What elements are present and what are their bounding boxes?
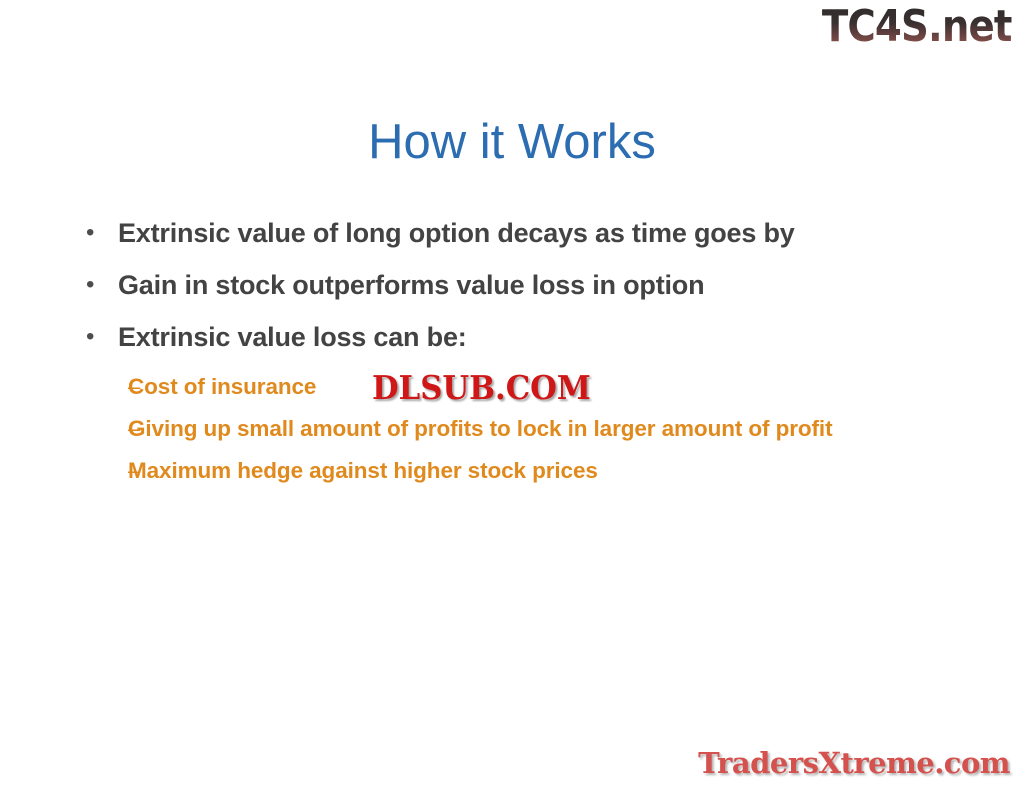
list-item-label: Gain in stock outperforms value loss in … [118,266,704,304]
bullet-dot-icon: • [78,266,118,304]
dash-icon: – [78,370,128,404]
sub-list-item-label: Cost of insurance [128,370,316,404]
bullet-dot-icon: • [78,214,118,252]
presentation-slide: TC4S.net How it Works • Extrinsic value … [0,0,1024,791]
list-item-label: Extrinsic value of long option decays as… [118,214,795,252]
dash-icon: – [78,412,128,446]
sub-list-item: – Maximum hedge against higher stock pri… [78,454,958,488]
sub-list-item: – Giving up small amount of profits to l… [78,412,958,446]
sub-list-item-label: Maximum hedge against higher stock price… [128,454,598,488]
list-item: • Extrinsic value of long option decays … [78,214,958,252]
dash-icon: – [78,454,128,488]
dlsub-watermark: DLSUB.COM [372,370,591,406]
bullet-list: • Extrinsic value of long option decays … [78,214,958,496]
list-item: • Extrinsic value loss can be: [78,318,958,356]
tradersxtreme-logo: TradersXtreme.com [698,745,1010,781]
bullet-dot-icon: • [78,318,118,356]
list-item-label: Extrinsic value loss can be: [118,318,467,356]
dlsub-watermark-label: DLSUB.COM [372,368,591,407]
list-item: • Gain in stock outperforms value loss i… [78,266,958,304]
tc4s-logo: TC4S.net [822,2,1012,52]
sub-list-item-label: Giving up small amount of profits to loc… [128,412,832,446]
page-title: How it Works [0,112,1024,172]
